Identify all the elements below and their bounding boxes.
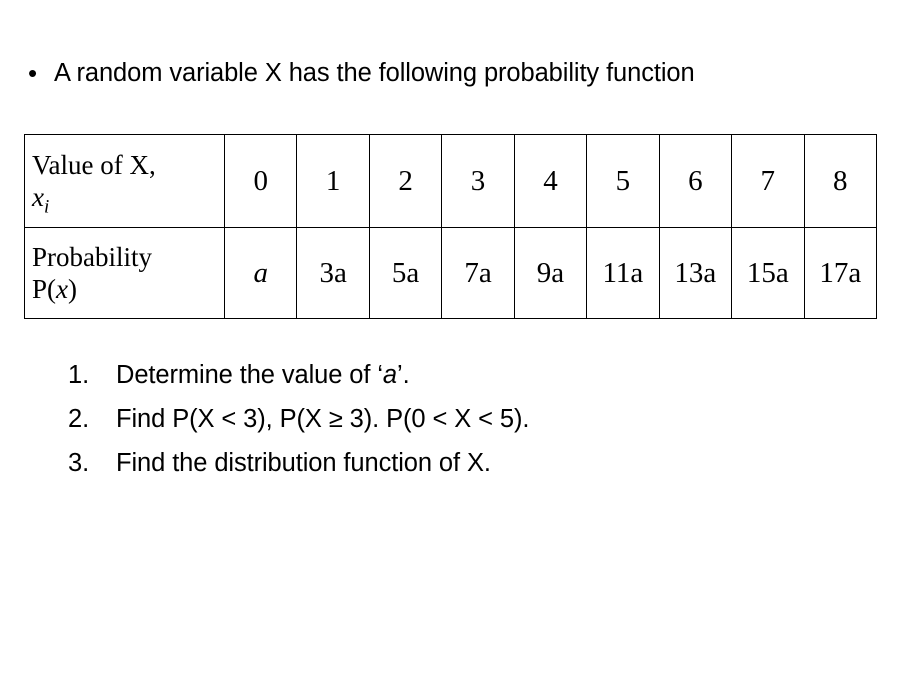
row-label-px-prefix: P( <box>32 274 56 304</box>
intro-bullet-block: • A random variable X has the following … <box>22 55 822 92</box>
row-label-probability-line1: Probability <box>32 241 224 273</box>
row-label-px-suffix: ) <box>68 274 77 304</box>
x-value-cell: 7 <box>732 135 804 228</box>
bullet-marker-icon: • <box>22 55 54 91</box>
table-row-values: Value of X, xi 0 1 2 3 4 5 6 7 8 <box>25 135 877 228</box>
list-item-text: Find P(X < 3), P(X ≥ 3). P(0 < X < 5). <box>116 397 828 441</box>
probability-cell: 9a <box>514 228 586 319</box>
x-value-cell: 5 <box>587 135 659 228</box>
row-label-value-of-x-line2: xi <box>32 181 224 213</box>
question-1-text-before: Determine the value of ‘ <box>116 361 383 389</box>
probability-cell: 5a <box>369 228 441 319</box>
probability-cell: 3a <box>297 228 369 319</box>
probability-cell: 7a <box>442 228 514 319</box>
x-value-cell: 0 <box>225 135 297 228</box>
question-1-text-after: ’. <box>397 361 410 389</box>
row-label-value-of-x-line1: Value of X, <box>32 149 224 181</box>
row-label-probability: Probability P(x) <box>25 228 225 319</box>
list-item-number: 1. <box>68 353 116 397</box>
x-value-cell: 8 <box>804 135 877 228</box>
list-item: 3. Find the distribution function of X. <box>68 441 828 485</box>
row-label-probability-line2: P(x) <box>32 273 224 305</box>
list-item: 1. Determine the value of ‘a’. <box>68 353 828 397</box>
row-label-px-variable: x <box>56 274 68 304</box>
x-value-cell: 1 <box>297 135 369 228</box>
row-label-xi-base: x <box>32 182 44 212</box>
list-item-text: Determine the value of ‘a’. <box>116 353 828 397</box>
list-item-text: Find the distribution function of X. <box>116 441 828 485</box>
question-1-italic-a: a <box>383 361 397 389</box>
probability-cell: 11a <box>587 228 659 319</box>
probability-cell: a <box>225 228 297 319</box>
row-label-value-of-x: Value of X, xi <box>25 135 225 228</box>
question-list: 1. Determine the value of ‘a’. 2. Find P… <box>68 353 828 485</box>
probability-cell: 15a <box>732 228 804 319</box>
intro-statement-text: A random variable X has the following pr… <box>54 55 695 92</box>
table-row-probabilities: Probability P(x) a 3a 5a 7a 9a 11a 13a 1… <box>25 228 877 319</box>
probability-cell: 13a <box>659 228 731 319</box>
x-value-cell: 6 <box>659 135 731 228</box>
row-label-xi-subscript: i <box>44 196 49 217</box>
list-item-number: 2. <box>68 397 116 441</box>
x-value-cell: 2 <box>369 135 441 228</box>
list-item: 2. Find P(X < 3), P(X ≥ 3). P(0 < X < 5)… <box>68 397 828 441</box>
x-value-cell: 4 <box>514 135 586 228</box>
list-item-number: 3. <box>68 441 116 485</box>
probability-distribution-table: Value of X, xi 0 1 2 3 4 5 6 7 8 Probabi… <box>24 134 877 319</box>
probability-cell: 17a <box>804 228 877 319</box>
x-value-cell: 3 <box>442 135 514 228</box>
slide-canvas: • A random variable X has the following … <box>0 0 900 675</box>
